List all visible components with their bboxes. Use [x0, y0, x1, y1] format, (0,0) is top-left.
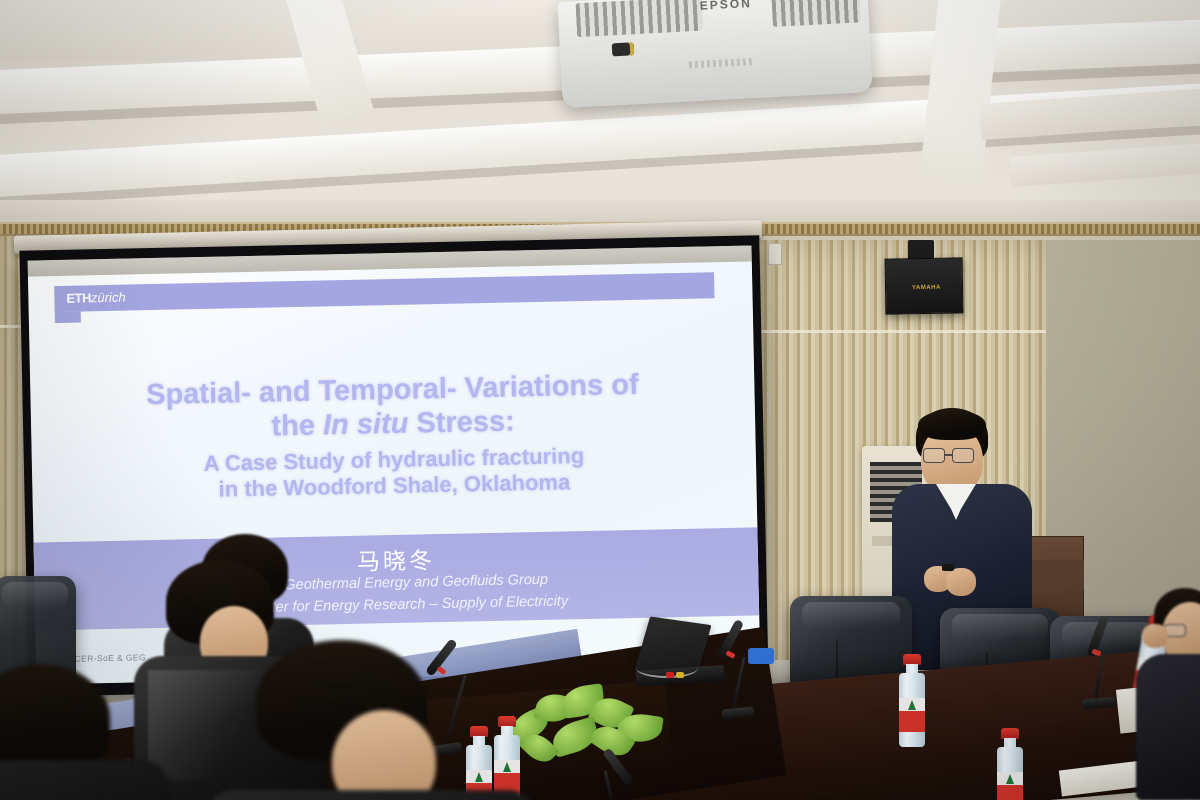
audience-right-hand: [1142, 624, 1168, 648]
conference-room-scene: EPSON YAMAHA ETHzürich Spatial- and Temp…: [0, 0, 1200, 800]
microphone-connector: [748, 648, 774, 664]
audience-fl-hair: [0, 664, 110, 774]
audience-fl-torso: [0, 760, 170, 800]
projector-brand-label: EPSON: [699, 0, 752, 13]
laptop-connector-yellow: [676, 672, 684, 678]
presenter-hair-front: [918, 410, 986, 440]
wall-trim-line: [760, 330, 1046, 333]
presenter-right-hand: [946, 568, 976, 596]
screen-control-sensor: [768, 243, 782, 265]
presenter-glasses-right-lens: [952, 448, 974, 463]
slide-header-notch: [55, 312, 81, 324]
presenter-glasses-bridge: [945, 454, 952, 456]
eth-logo-zurich: zürich: [91, 290, 126, 306]
eth-zurich-logo: ETHzürich: [66, 290, 125, 306]
slide-header-band: [54, 272, 714, 312]
presenter-glasses-left-lens: [923, 448, 945, 463]
loudspeaker-icon: YAMAHA: [885, 257, 964, 314]
speaker-brand-label: YAMAHA: [912, 285, 941, 292]
projector-icon: EPSON: [557, 0, 872, 108]
audience-right-torso: [1136, 654, 1200, 800]
projector-lens: [612, 42, 635, 56]
slide-title-line2-emphasis: In situ: [323, 408, 409, 442]
audience-member-right: [1136, 588, 1200, 800]
slide-title-line2-pre: the: [271, 410, 323, 443]
slide-title-block: Spatial- and Temporal- Variations of the…: [70, 366, 717, 506]
laptop-connector-red: [666, 672, 674, 678]
eth-logo-eth: ETH: [66, 290, 91, 306]
presentation-clicker: [942, 564, 954, 571]
audience-member-front-left: [0, 664, 160, 800]
audience-member-foreground: [236, 640, 536, 800]
ceiling-cornice: [0, 200, 1200, 224]
audience-fg-torso: [206, 790, 536, 800]
slide-title-line2-post: Stress:: [408, 406, 515, 440]
